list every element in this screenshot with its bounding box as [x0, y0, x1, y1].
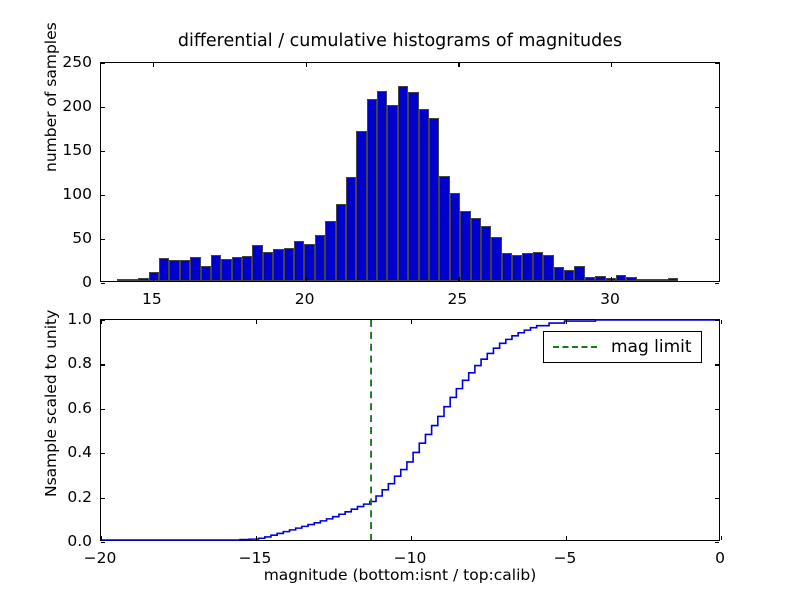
histogram-bar [398, 86, 408, 281]
histogram-bar [242, 256, 252, 281]
x-tick-label: 30 [600, 290, 620, 308]
histogram-bar [471, 218, 481, 281]
histogram-bar [595, 276, 605, 281]
y-tick-label: 0.0 [44, 532, 92, 550]
y-tick [715, 320, 719, 321]
histogram-bar [439, 176, 449, 281]
x-tick-label: −20 [84, 549, 117, 567]
histogram-bar [429, 118, 439, 281]
x-tick [721, 536, 722, 540]
y-tick [715, 542, 719, 543]
histogram-bar [533, 252, 543, 281]
legend-label-mag-limit: mag limit [611, 337, 692, 357]
histogram-bar [585, 277, 595, 281]
histogram-bar [554, 267, 564, 281]
y-tick [715, 453, 719, 454]
histogram-bar [647, 279, 657, 281]
y-tick-label: 0 [44, 273, 92, 291]
y-tick [101, 151, 105, 152]
histogram-bar [450, 193, 460, 281]
x-tick [153, 63, 154, 67]
histogram-bar [117, 279, 127, 281]
histogram-bar [159, 258, 169, 281]
histogram-bar [273, 249, 283, 281]
x-tick [306, 63, 307, 67]
y-tick [715, 195, 719, 196]
histogram-bar [201, 266, 211, 281]
histogram-bar [315, 235, 325, 281]
y-tick [101, 107, 105, 108]
y-tick [715, 63, 719, 64]
histogram-bar [325, 221, 335, 281]
x-tick [256, 536, 257, 540]
histogram-bar [616, 275, 626, 281]
x-tick [153, 277, 154, 281]
y-tick [715, 283, 719, 284]
histogram-bar [543, 255, 553, 281]
y-tick [715, 151, 719, 152]
y-tick [715, 107, 719, 108]
x-tick [306, 277, 307, 281]
histogram-bar [522, 253, 532, 281]
histogram-bar [138, 278, 148, 281]
histogram-bar [128, 279, 138, 281]
histogram-bar [626, 277, 636, 281]
histogram-bar [232, 257, 242, 281]
y-tick [715, 409, 719, 410]
y-tick [101, 542, 105, 543]
histogram-bar [346, 177, 356, 281]
histogram-bar [252, 245, 262, 281]
x-tick-label: −10 [394, 549, 427, 567]
y-tick [101, 195, 105, 196]
x-tick [458, 277, 459, 281]
histogram-bar [564, 270, 574, 281]
histogram-bar [491, 237, 501, 281]
y-tick [101, 498, 105, 499]
histogram-bar [408, 92, 418, 281]
histogram-bar [284, 248, 294, 281]
histogram-bar [190, 257, 200, 281]
histogram-bar [657, 279, 667, 281]
cumulative-histogram-xlabel: magnitude (bottom:isnt / top:calib) [0, 566, 800, 584]
y-tick [101, 364, 105, 365]
x-tick [458, 63, 459, 67]
cumulative-histogram-axes: mag limit [100, 319, 720, 541]
differential-histogram-plot-area [101, 63, 719, 281]
histogram-bar [367, 99, 377, 281]
y-tick [715, 239, 719, 240]
x-tick [101, 536, 102, 540]
x-tick [411, 536, 412, 540]
y-tick [101, 283, 105, 284]
differential-histogram-ylabel: number of samples [42, 22, 60, 172]
histogram-bar [574, 266, 584, 281]
y-tick [101, 320, 105, 321]
legend[interactable]: mag limit [543, 331, 702, 363]
x-tick-label: 20 [295, 290, 315, 308]
x-tick-label: −5 [554, 549, 577, 567]
x-tick [611, 63, 612, 67]
y-tick-label: 100 [44, 185, 92, 203]
histogram-bar [211, 255, 221, 281]
y-tick [715, 498, 719, 499]
y-tick [101, 453, 105, 454]
figure-title: differential / cumulative histograms of … [0, 31, 800, 51]
histogram-bar [356, 131, 366, 281]
y-tick [101, 409, 105, 410]
x-tick [411, 320, 412, 324]
y-tick [715, 364, 719, 365]
y-tick [101, 63, 105, 64]
histogram-bar [481, 226, 491, 281]
x-tick [566, 536, 567, 540]
histogram-bar [668, 278, 678, 281]
matplotlib-figure: differential / cumulative histograms of … [0, 0, 800, 600]
x-tick [721, 320, 722, 324]
histogram-bar [180, 260, 190, 281]
histogram-bar [221, 259, 231, 281]
mag-limit-legend-swatch [553, 346, 597, 348]
x-tick-label: −15 [239, 549, 272, 567]
y-tick-label: 50 [44, 229, 92, 247]
histogram-bar [637, 279, 647, 281]
y-tick [101, 239, 105, 240]
histogram-bar [460, 211, 470, 281]
x-tick-label: 15 [142, 290, 162, 308]
histogram-bar [512, 255, 522, 281]
histogram-bar [304, 244, 314, 281]
histogram-bar [502, 253, 512, 281]
x-tick-label: 25 [447, 290, 467, 308]
histogram-bar [336, 204, 346, 281]
cumulative-histogram-ylabel: Nsample scaled to unity [42, 310, 60, 497]
histogram-bar [169, 260, 179, 281]
histogram-bar [419, 109, 429, 281]
histogram-bar [294, 241, 304, 281]
histogram-bar [377, 91, 387, 281]
x-tick [566, 320, 567, 324]
x-tick [256, 320, 257, 324]
differential-histogram-axes [100, 62, 720, 282]
histogram-bar [387, 105, 397, 281]
x-tick-label: 0 [715, 549, 725, 567]
histogram-bar [263, 252, 273, 281]
x-tick [611, 277, 612, 281]
